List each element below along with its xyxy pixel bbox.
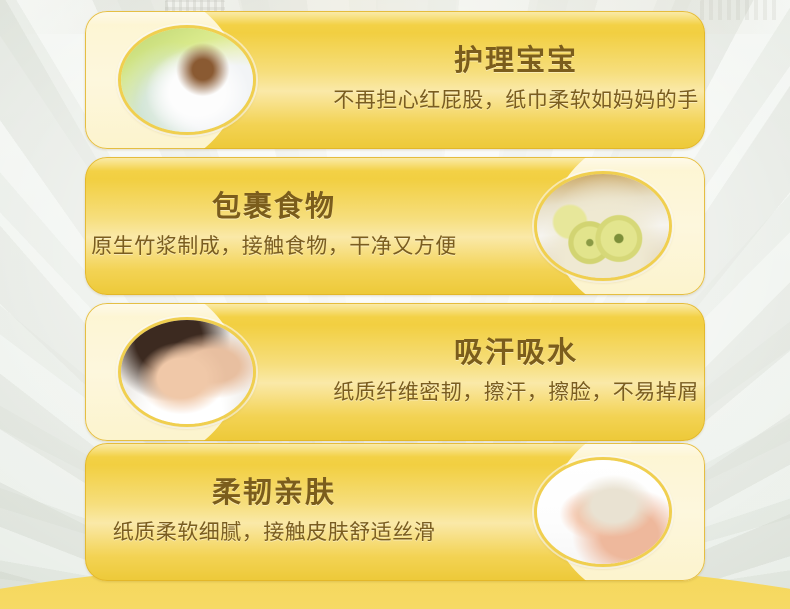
kiwi-fruit-photo (534, 171, 672, 281)
woman-washing-face-photo-image (121, 320, 253, 424)
baby-photo-image (121, 28, 253, 132)
card-title: 护理宝宝 (454, 46, 578, 78)
card-subtitle: 纸质柔软细腻，接触皮肤舒适丝滑 (113, 521, 436, 545)
feature-card[interactable]: 包裹食物 原生竹浆制成，接触食物，干净又方便 (85, 157, 705, 295)
card-subtitle: 原生竹浆制成，接触食物，干净又方便 (91, 235, 457, 259)
feature-card[interactable]: 护理宝宝 不再担心红屁股，纸巾柔软如妈妈的手 (85, 11, 705, 149)
baby-photo (118, 25, 256, 135)
kiwi-fruit-photo-image (537, 174, 669, 278)
feature-card[interactable]: 吸汗吸水 纸质纤维密韧，擦汗，擦脸，不易掉屑 (85, 303, 705, 441)
background-top-label-mark-secondary (700, 0, 780, 20)
feature-card[interactable]: 柔韧亲肤 纸质柔软细腻，接触皮肤舒适丝滑 (85, 443, 705, 581)
card-title: 吸汗吸水 (454, 338, 578, 370)
card-text-block: 护理宝宝 不再担心红屁股，纸巾柔软如妈妈的手 (335, 11, 697, 149)
hand-holding-tissue-photo-image (537, 460, 669, 564)
promo-banner: 护理宝宝 不再担心红屁股，纸巾柔软如妈妈的手 包裹食物 原生竹浆制成，接触食物，… (0, 0, 790, 609)
card-subtitle: 纸质纤维密韧，擦汗，擦脸，不易掉屑 (333, 381, 699, 405)
card-title: 柔韧亲肤 (212, 478, 336, 510)
feature-card-list: 护理宝宝 不再担心红屁股，纸巾柔软如妈妈的手 包裹食物 原生竹浆制成，接触食物，… (85, 11, 705, 581)
card-text-block: 吸汗吸水 纸质纤维密韧，擦汗，擦脸，不易掉屑 (335, 303, 697, 441)
card-subtitle: 不再担心红屁股，纸巾柔软如妈妈的手 (333, 89, 699, 113)
card-text-block: 柔韧亲肤 纸质柔软细腻，接触皮肤舒适丝滑 (93, 443, 455, 581)
hand-holding-tissue-photo (534, 457, 672, 567)
card-title: 包裹食物 (212, 192, 336, 224)
woman-washing-face-photo (118, 317, 256, 427)
card-text-block: 包裹食物 原生竹浆制成，接触食物，干净又方便 (93, 157, 455, 295)
